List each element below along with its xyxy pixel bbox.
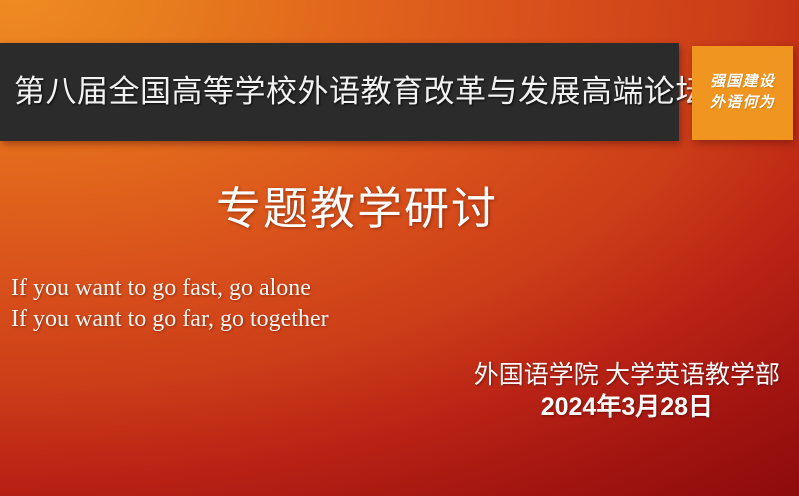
forum-title: 第八届全国高等学校外语教育改革与发展高端论坛 <box>14 75 707 109</box>
organization-name: 外国语学院 大学英语教学部 <box>474 360 780 391</box>
theme-slogan-line-1: 强国建设 <box>710 74 775 91</box>
quote-line-2: If you want to go far, go together <box>11 304 329 335</box>
forum-title-banner: 第八届全国高等学校外语教育改革与发展高端论坛 <box>0 43 679 141</box>
attribution-block: 外国语学院 大学英语教学部 2024年3月28日 <box>474 360 780 425</box>
theme-slogan-line-2: 外语何为 <box>710 95 775 112</box>
quote-block: If you want to go fast, go alone If you … <box>11 273 329 334</box>
presentation-date: 2024年3月28日 <box>474 391 780 425</box>
theme-slogan-badge: 强国建设 外语何为 <box>692 46 793 140</box>
presentation-slide: 第八届全国高等学校外语教育改革与发展高端论坛 强国建设 外语何为 专题教学研讨 … <box>0 0 799 496</box>
quote-line-1: If you want to go fast, go alone <box>11 273 329 304</box>
slide-heading: 专题教学研讨 <box>216 172 498 237</box>
